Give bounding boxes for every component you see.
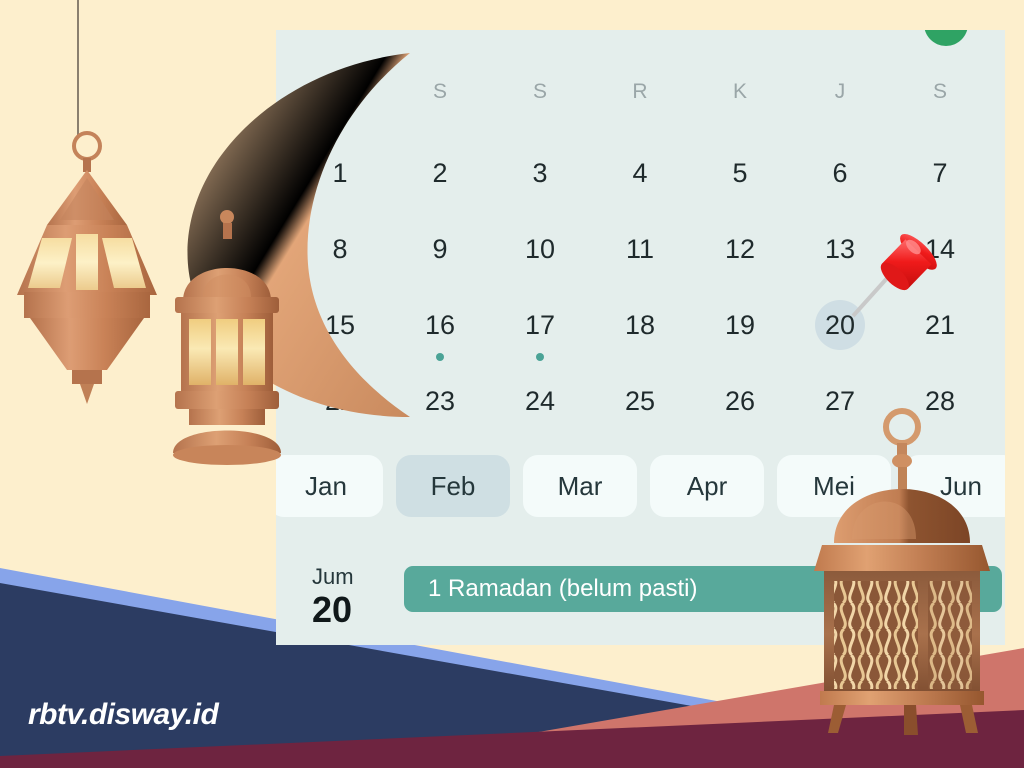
date-cell-11[interactable]: 11 bbox=[590, 224, 690, 300]
date-cell-12[interactable]: 12 bbox=[690, 224, 790, 300]
weekday-label: K bbox=[690, 80, 790, 104]
large-lantern-icon bbox=[812, 395, 1012, 735]
date-cell-5[interactable]: 5 bbox=[690, 148, 790, 224]
date-cell-25[interactable]: 25 bbox=[590, 376, 690, 452]
weekday-label: R bbox=[590, 80, 690, 104]
date-cell-10[interactable]: 10 bbox=[490, 224, 590, 300]
pushpin-icon bbox=[845, 230, 945, 330]
date-number: 16 bbox=[415, 300, 465, 350]
date-number: 6 bbox=[815, 148, 865, 198]
event-day-name: Jum bbox=[312, 564, 382, 590]
date-number: 26 bbox=[715, 376, 765, 426]
date-number: 25 bbox=[615, 376, 665, 426]
standing-lantern-icon bbox=[155, 205, 300, 475]
event-dot bbox=[536, 353, 544, 361]
month-chip-apr[interactable]: Apr bbox=[650, 455, 764, 517]
date-cell-17[interactable]: 17 bbox=[490, 300, 590, 376]
date-number: 4 bbox=[615, 148, 665, 198]
date-cell-18[interactable]: 18 bbox=[590, 300, 690, 376]
month-chip-feb[interactable]: Feb bbox=[396, 455, 510, 517]
date-number: 24 bbox=[515, 376, 565, 426]
date-number: 19 bbox=[715, 300, 765, 350]
date-number: 2 bbox=[415, 148, 465, 198]
date-cell-19[interactable]: 19 bbox=[690, 300, 790, 376]
date-number: 11 bbox=[615, 224, 665, 274]
weekday-label: S bbox=[490, 80, 590, 104]
month-chip-mar[interactable]: Mar bbox=[523, 455, 637, 517]
date-cell-7[interactable]: 7 bbox=[890, 148, 990, 224]
date-number: 23 bbox=[415, 376, 465, 426]
date-number: 5 bbox=[715, 148, 765, 198]
event-dot bbox=[436, 353, 444, 361]
date-number: 18 bbox=[615, 300, 665, 350]
date-cell-3[interactable]: 3 bbox=[490, 148, 590, 224]
date-cell-24[interactable]: 24 bbox=[490, 376, 590, 452]
date-number: 10 bbox=[515, 224, 565, 274]
event-day-number: 20 bbox=[312, 590, 382, 630]
date-cell-26[interactable]: 26 bbox=[690, 376, 790, 452]
event-date-block: Jum 20 bbox=[312, 558, 382, 630]
date-cell-6[interactable]: 6 bbox=[790, 148, 890, 224]
date-number: 7 bbox=[915, 148, 965, 198]
hanging-lantern-icon bbox=[2, 120, 172, 420]
weekday-label: J bbox=[790, 80, 890, 104]
weekday-label: S bbox=[890, 80, 990, 104]
date-number: 9 bbox=[415, 224, 465, 274]
date-cell-4[interactable]: 4 bbox=[590, 148, 690, 224]
site-watermark: rbtv.disway.id bbox=[28, 698, 218, 732]
date-number: 3 bbox=[515, 148, 565, 198]
green-circle-badge-icon bbox=[924, 30, 968, 46]
date-number: 12 bbox=[715, 224, 765, 274]
date-number: 17 bbox=[515, 300, 565, 350]
lantern-wire bbox=[77, 0, 79, 135]
